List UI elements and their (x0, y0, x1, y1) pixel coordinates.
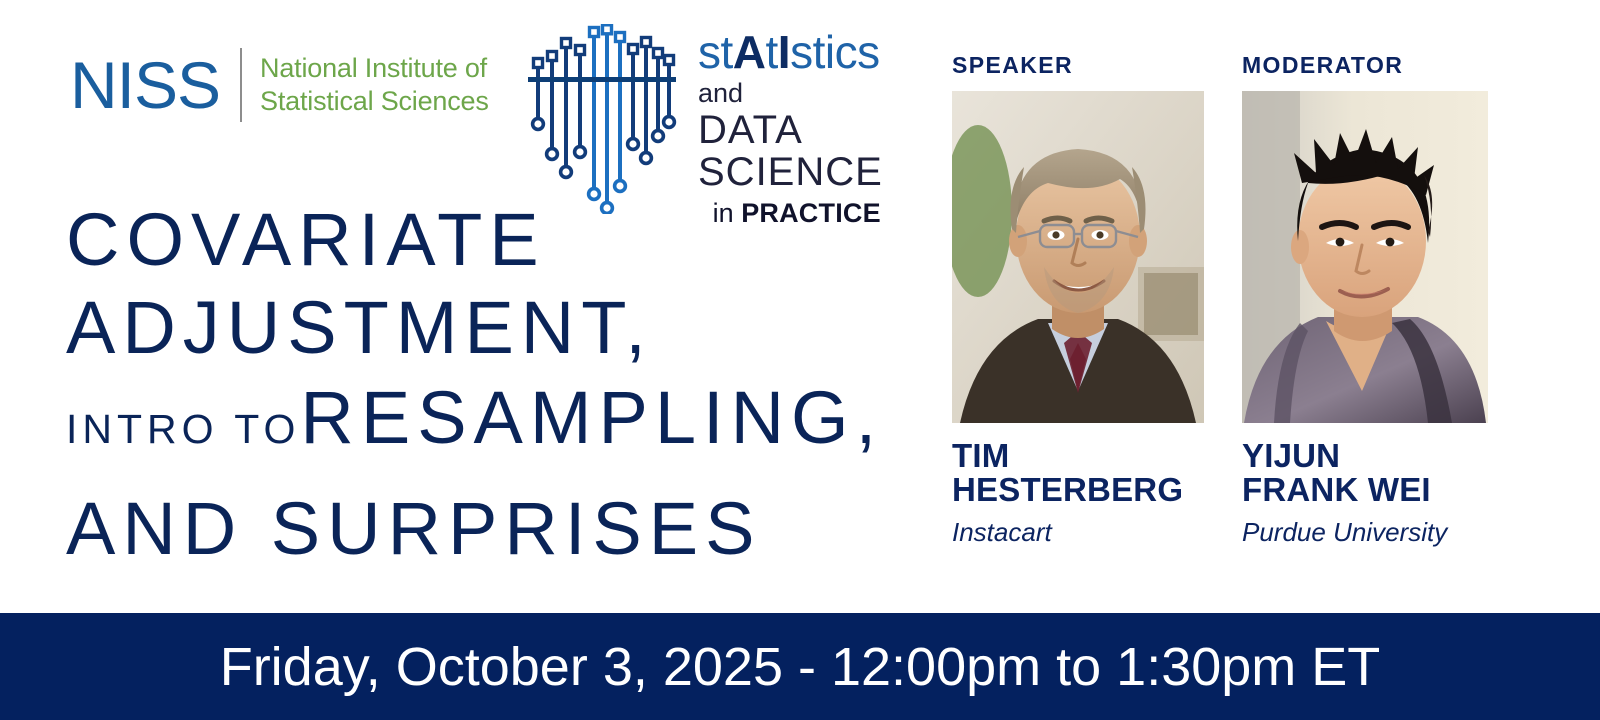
speaker-role-label: SPEAKER (952, 52, 1204, 79)
statistics-wordmark: stAtIstics (698, 28, 883, 76)
statistics-a: A (733, 26, 766, 78)
title-line-4: AND SURPRISES (66, 485, 946, 573)
series-science-label: SCIENCE (698, 151, 883, 193)
niss-acronym: NISS (70, 52, 220, 118)
title-resampling: RESAMPLING, (300, 376, 883, 459)
moderator-affiliation: Purdue University (1242, 517, 1488, 548)
niss-full-name: National Institute of Statistical Scienc… (260, 52, 489, 118)
niss-name-line-1: National Institute of (260, 52, 489, 85)
niss-logo: NISS National Institute of Statistical S… (70, 48, 489, 122)
statistics-mid: t (766, 26, 778, 78)
statistics-pre: st (698, 26, 733, 78)
moderator-name-line-2: FRANK WEI (1242, 473, 1488, 507)
logo-divider (240, 48, 242, 122)
moderator-photo (1242, 91, 1488, 423)
title-intro-to: INTRO TO (66, 406, 300, 452)
moderator-portrait-image (1242, 91, 1488, 423)
moderator-name-line-1: YIJUN (1242, 439, 1488, 473)
webinar-banner: NISS National Institute of Statistical S… (0, 0, 1600, 720)
series-and-label: and (698, 78, 883, 109)
speaker-name-line-1: TIM (952, 439, 1204, 473)
statistics-i: I (778, 26, 790, 78)
circuit-nodes-icon (522, 24, 682, 214)
date-time-text: Friday, October 3, 2025 - 12:00pm to 1:3… (220, 636, 1381, 698)
title-line-2: ADJUSTMENT, (66, 284, 946, 372)
title-line-1: COVARIATE (66, 196, 946, 284)
speaker-affiliation: Instacart (952, 517, 1204, 548)
speaker-name-line-2: HESTERBERG (952, 473, 1204, 507)
statistics-post: stics (790, 26, 880, 78)
moderator-card: MODERATOR (1242, 52, 1488, 548)
title-line-3: INTRO TORESAMPLING, (66, 372, 946, 485)
speaker-photo (952, 91, 1204, 423)
date-banner: Friday, October 3, 2025 - 12:00pm to 1:3… (0, 613, 1600, 720)
niss-name-line-2: Statistical Sciences (260, 85, 489, 118)
series-data-label: DATA (698, 109, 883, 151)
speaker-name: TIM HESTERBERG (952, 439, 1204, 507)
moderator-name: YIJUN FRANK WEI (1242, 439, 1488, 507)
moderator-role-label: MODERATOR (1242, 52, 1488, 79)
webinar-title: COVARIATE ADJUSTMENT, INTRO TORESAMPLING… (66, 196, 946, 573)
speaker-portrait-image (952, 91, 1204, 423)
speaker-card: SPEAKER (952, 52, 1204, 548)
